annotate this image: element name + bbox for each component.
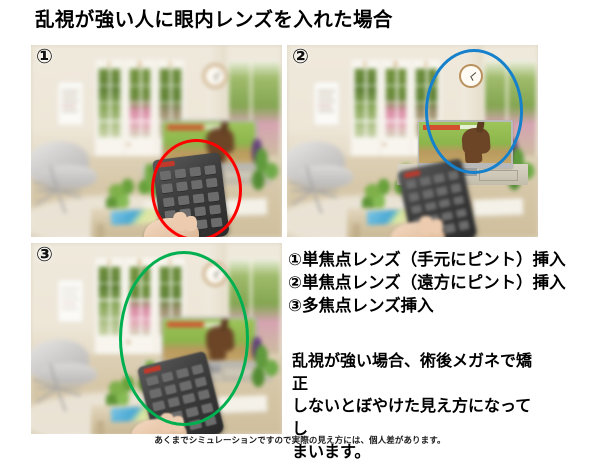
legend-item-2: ②単焦点レンズ（遠方にピント）挿入 <box>288 272 566 295</box>
hand <box>390 222 445 237</box>
simulation-panel-3[interactable]: ③ <box>31 243 282 434</box>
hand <box>144 218 199 237</box>
note-block: 乱視が強い場合、術後メガネで矯正 しないとぼやけた見え方になってし まいます。 <box>292 351 544 465</box>
note-line-1: 乱視が強い場合、術後メガネで矯正 <box>292 351 544 396</box>
near-subject-group <box>287 45 538 237</box>
near-subject-group <box>31 243 282 434</box>
page-title: 乱視が強い人に眼内レンズを入れた場合 <box>35 9 393 32</box>
panel-number-3: ③ <box>36 245 53 265</box>
panel-number-2: ② <box>292 47 309 67</box>
legend-item-3: ③多焦点レンズ挿入 <box>288 295 566 318</box>
panel-number-1: ① <box>36 47 53 67</box>
footer-disclaimer: あくまでシミュレーションですので実際の見え方には、個人差があります。 <box>0 434 600 446</box>
near-subject-group <box>31 45 282 237</box>
legend-list: ①単焦点レンズ（手元にピント）挿入 ②単焦点レンズ（遠方にピント）挿入 ③多焦点… <box>288 249 566 317</box>
simulation-panel-1[interactable]: ① <box>31 45 282 237</box>
hand <box>131 419 186 434</box>
legend-item-1: ①単焦点レンズ（手元にピント）挿入 <box>288 249 566 272</box>
simulation-panel-2[interactable]: ② <box>287 45 538 237</box>
